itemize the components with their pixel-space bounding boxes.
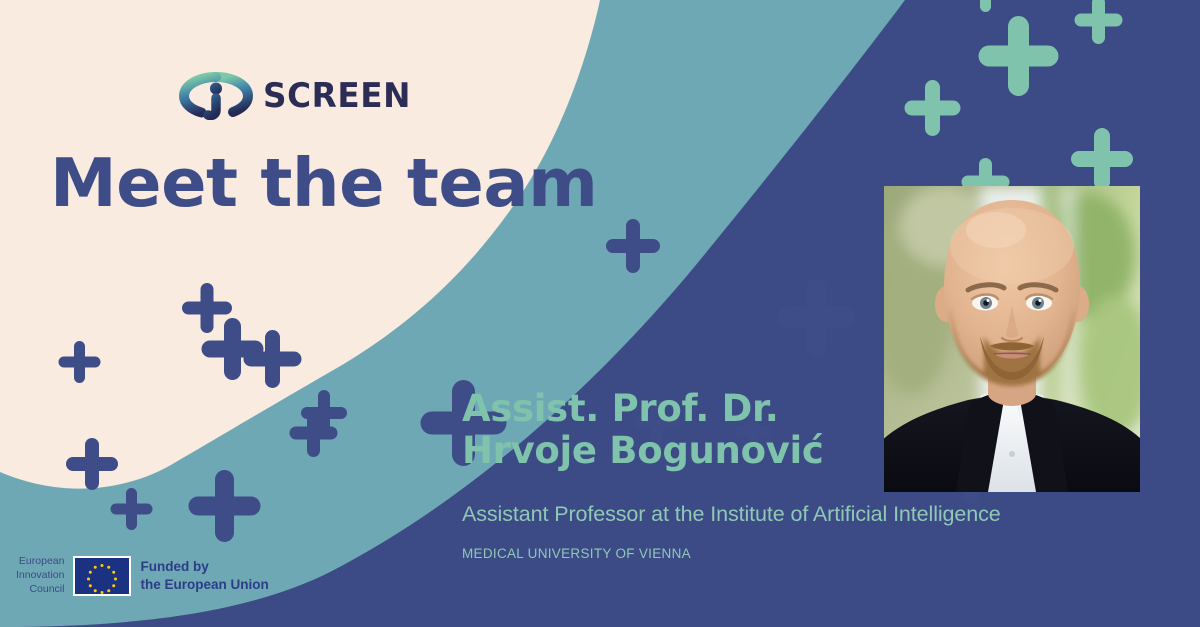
iscreen-logo[interactable]: SCREEN: [178, 72, 417, 120]
eic-line-2: Innovation: [16, 569, 64, 583]
person-affiliation: MEDICAL UNIVERSITY OF VIENNA: [462, 546, 691, 561]
person-role: Assistant Professor at the Institute of …: [462, 502, 1001, 527]
funded-line-2: the European Union: [140, 576, 268, 594]
eic-text-block: European Innovation Council: [16, 555, 64, 597]
funded-by-text-block: Funded by the European Union: [140, 558, 268, 594]
eye-with-i-icon: [178, 72, 254, 120]
person-name-block: Assist. Prof. Dr. Hrvoje Bogunović: [462, 388, 872, 472]
eu-flag-icon: [73, 556, 131, 596]
eic-line-1: European: [16, 555, 64, 569]
eu-funding-lockup: European Innovation Council: [16, 555, 269, 597]
funded-line-1: Funded by: [140, 558, 268, 576]
person-name-line-1: Assist. Prof. Dr.: [462, 388, 872, 430]
page-title: Meet the team: [50, 150, 597, 217]
portrait-photo: [884, 186, 1140, 492]
logo-wordmark: SCREEN: [263, 79, 411, 113]
meet-the-team-banner: SCREEN Meet the team Assist. Prof. Dr. H…: [0, 0, 1200, 627]
eic-line-3: Council: [16, 583, 64, 597]
person-name-line-2: Hrvoje Bogunović: [462, 430, 872, 472]
